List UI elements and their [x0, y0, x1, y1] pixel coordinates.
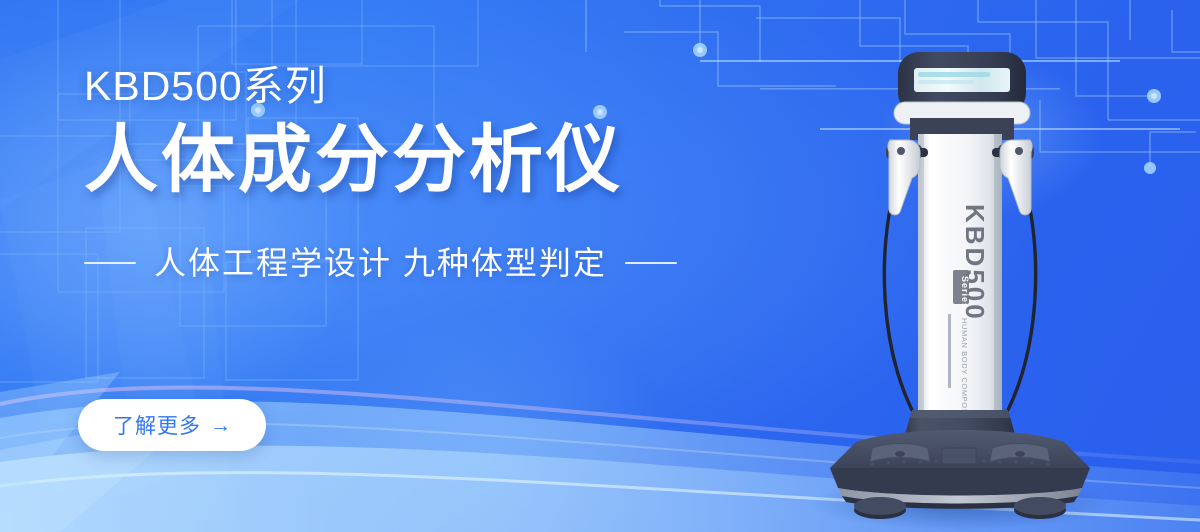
- learn-more-button[interactable]: 了解更多 →: [78, 399, 266, 451]
- device-illustration: KBD500 Series HUMAN BODY COMPOSITION ANA…: [790, 18, 1130, 532]
- dash-left-icon: [84, 262, 136, 264]
- subtitle-row: 人体工程学设计 九种体型判定: [84, 247, 724, 279]
- arrow-right-icon: →: [210, 415, 231, 436]
- page-title: 人体成分分析仪: [84, 123, 724, 197]
- mid-glow: [230, 250, 750, 532]
- learn-more-label: 了解更多: [113, 410, 201, 440]
- device-platform: [830, 430, 1090, 509]
- hero-copy: KBD500系列 人体成分分析仪 人体工程学设计 九种体型判定: [84, 66, 724, 279]
- device-badge-text: Series: [960, 276, 970, 309]
- subtitle-text: 人体工程学设计 九种体型判定: [154, 247, 607, 279]
- device-image: KBD500 Series HUMAN BODY COMPOSITION ANA…: [790, 18, 1130, 532]
- device-display-head: [894, 52, 1030, 140]
- dash-right-icon: [625, 262, 677, 264]
- eyebrow-text: KBD500系列: [84, 66, 724, 107]
- hero-banner: KBD500系列 人体成分分析仪 人体工程学设计 九种体型判定 了解更多 →: [0, 0, 1200, 532]
